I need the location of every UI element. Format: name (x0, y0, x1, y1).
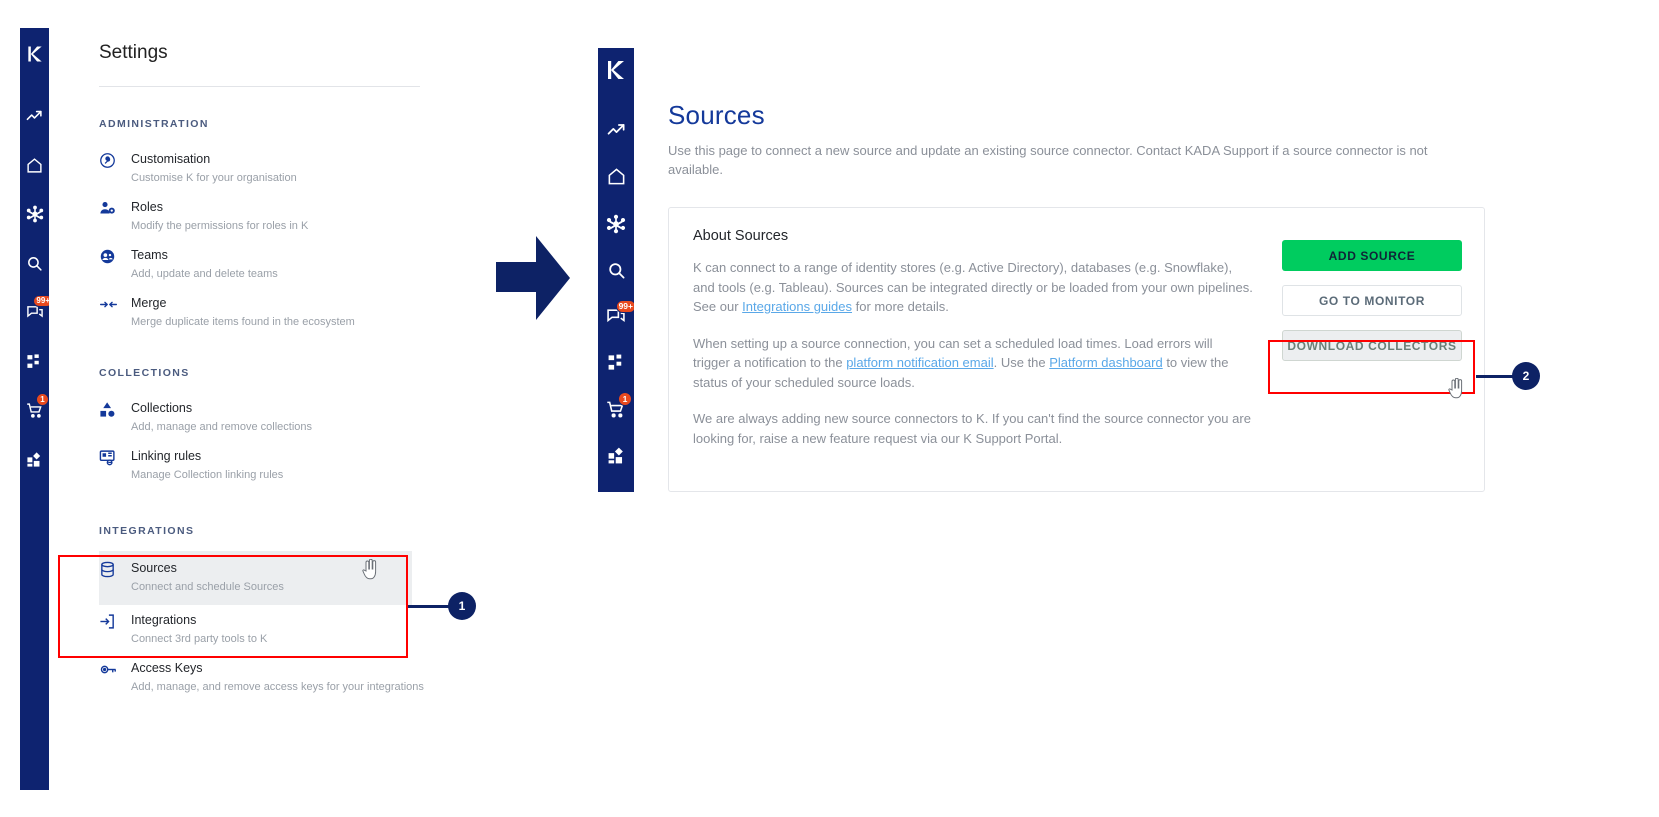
settings-item-desc: Customise K for your organisation (131, 172, 297, 184)
sources-page-subtitle: Use this page to connect a new source an… (668, 141, 1458, 179)
settings-item-collections[interactable]: Collections Add, manage and remove colle… (99, 393, 412, 441)
sources-content: Sources Use this page to connect a new s… (634, 48, 1634, 492)
sidebar-item-network[interactable] (20, 203, 49, 225)
callout-leader-1 (408, 605, 450, 608)
settings-item-merge[interactable]: Merge Merge duplicate items found in the… (99, 288, 412, 336)
sidebar-item-insights[interactable] (20, 105, 49, 127)
title-divider (99, 86, 420, 87)
card-paragraph-1: K can connect to a range of identity sto… (693, 258, 1253, 317)
settings-item-desc: Add, manage and remove collections (131, 421, 312, 433)
sidebar-item-messages[interactable]: 99+ (20, 301, 49, 323)
k-logo-icon[interactable] (604, 58, 628, 87)
highlight-box-download-collectors (1268, 340, 1475, 394)
sidebar-item-search[interactable] (598, 261, 634, 280)
add-source-button[interactable]: ADD SOURCE (1282, 240, 1462, 271)
sidebar-item-dashboard[interactable] (598, 446, 634, 465)
settings-item-label: Customisation (131, 152, 210, 166)
settings-item-desc: Add, manage, and remove access keys for … (131, 681, 424, 693)
highlight-box-sources (58, 555, 408, 658)
sidebar-item-search[interactable] (20, 252, 49, 274)
settings-item-access-keys[interactable]: Access Keys Add, manage, and remove acce… (99, 653, 459, 701)
sidebar-item-insights[interactable] (598, 121, 634, 140)
linking-rules-icon (99, 447, 129, 466)
shapes-collections-icon (99, 399, 129, 418)
key-icon (99, 659, 129, 678)
sidebar-item-messages[interactable]: 99+ (598, 307, 634, 326)
paragraph-2-text-b: . Use the (994, 355, 1050, 370)
section-heading-integrations: INTEGRATIONS (99, 525, 420, 537)
paragraph-1-text-b: for more details. (852, 299, 949, 314)
settings-item-roles[interactable]: Roles Modify the permissions for roles i… (99, 192, 412, 240)
screenshot-stage: 99+ 1 Settings ADMINISTRATION (0, 0, 1659, 817)
integrations-guides-link[interactable]: Integrations guides (742, 299, 852, 314)
merge-arrows-icon (99, 294, 129, 313)
cart-badge: 1 (36, 393, 49, 406)
card-paragraph-3: We are always adding new source connecto… (693, 409, 1253, 448)
section-heading-collections: COLLECTIONS (99, 367, 420, 379)
settings-item-linking-rules[interactable]: Linking rules Manage Collection linking … (99, 441, 412, 489)
callout-badge-2: 2 (1512, 362, 1540, 390)
go-to-monitor-button[interactable]: GO TO MONITOR (1282, 285, 1462, 316)
k-logo-icon[interactable] (25, 44, 45, 69)
teams-people-icon (99, 246, 129, 265)
sources-screenshot-panel: 99+ 1 Sources Use this page to connect a… (598, 48, 1634, 492)
platform-notification-email-link[interactable]: platform notification email (846, 355, 993, 370)
wrench-icon (99, 150, 129, 169)
settings-item-label: Teams (131, 248, 168, 262)
platform-dashboard-link[interactable]: Platform dashboard (1049, 355, 1162, 370)
left-nav-rail: 99+ 1 (20, 28, 49, 790)
messages-badge: 99+ (616, 300, 636, 313)
sidebar-item-cart[interactable]: 1 (20, 399, 49, 421)
settings-item-desc: Add, update and delete teams (131, 268, 278, 280)
settings-content: Settings ADMINISTRATION Customisation Cu… (49, 28, 420, 790)
settings-item-label: Roles (131, 200, 163, 214)
settings-item-customisation[interactable]: Customisation Customise K for your organ… (99, 144, 412, 192)
roles-person-gear-icon (99, 198, 129, 217)
sidebar-item-cart[interactable]: 1 (598, 399, 634, 418)
settings-item-desc: Manage Collection linking rules (131, 469, 283, 481)
sidebar-item-hierarchy[interactable] (20, 350, 49, 372)
page-title: Settings (99, 28, 420, 64)
sidebar-item-hierarchy[interactable] (598, 353, 634, 372)
flow-arrow-icon (494, 232, 572, 329)
section-heading-administration: ADMINISTRATION (99, 118, 420, 130)
sidebar-item-network[interactable] (598, 214, 634, 234)
sidebar-item-home[interactable] (598, 167, 634, 186)
settings-item-label: Linking rules (131, 449, 201, 463)
callout-leader-2 (1476, 375, 1514, 378)
settings-item-desc: Merge duplicate items found in the ecosy… (131, 316, 355, 328)
sources-page-title: Sources (668, 100, 1634, 131)
settings-item-label: Merge (131, 296, 166, 310)
sidebar-item-dashboard[interactable] (20, 448, 49, 470)
callout-badge-1: 1 (448, 592, 476, 620)
settings-item-teams[interactable]: Teams Add, update and delete teams (99, 240, 412, 288)
settings-item-label: Access Keys (131, 661, 203, 675)
settings-screenshot-panel: 99+ 1 Settings ADMINISTRATION (20, 28, 420, 790)
sidebar-item-home[interactable] (20, 154, 49, 176)
card-paragraph-2: When setting up a source connection, you… (693, 334, 1253, 393)
cart-badge: 1 (618, 392, 632, 406)
settings-item-desc: Modify the permissions for roles in K (131, 220, 308, 232)
settings-item-label: Collections (131, 401, 192, 415)
right-nav-rail: 99+ 1 (598, 48, 634, 492)
